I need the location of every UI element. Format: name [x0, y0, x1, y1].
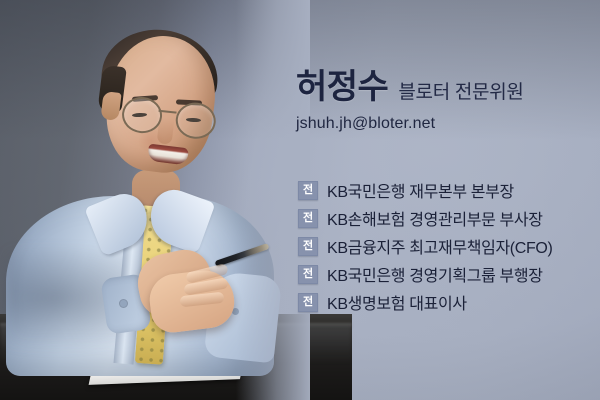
person-role: 블로터 전문위원	[398, 77, 523, 104]
career-text: KB생명보험 대표이사	[327, 290, 467, 314]
list-item: 전 KB생명보험 대표이사	[298, 288, 594, 316]
list-item: 전 KB금융지주 최고재무책임자(CFO)	[298, 232, 594, 260]
career-list: 전 KB국민은행 재무본부 본부장 전 KB손해보험 경영관리부문 부사장 전 …	[298, 176, 594, 316]
list-item: 전 KB국민은행 재무본부 본부장	[298, 176, 594, 204]
career-text: KB국민은행 경영기획그룹 부행장	[327, 262, 543, 286]
portrait-photo	[0, 0, 300, 400]
lens-right	[174, 101, 218, 141]
name-row: 허정수 블로터 전문위원	[296, 70, 588, 106]
career-text: KB국민은행 재무본부 본부장	[327, 178, 514, 202]
email-address[interactable]: jshuh.jh@bloter.net	[296, 115, 588, 133]
status-badge: 전	[298, 265, 318, 284]
identity-block: 허정수 블로터 전문위원 jshuh.jh@bloter.net	[296, 70, 588, 133]
cuff-button	[120, 300, 127, 307]
status-badge: 전	[298, 293, 318, 312]
profile-card: 허정수 블로터 전문위원 jshuh.jh@bloter.net 전 KB국민은…	[0, 0, 600, 400]
list-item: 전 KB손해보험 경영관리부문 부사장	[298, 204, 594, 232]
status-badge: 전	[298, 209, 318, 228]
list-item: 전 KB국민은행 경영기획그룹 부행장	[298, 260, 594, 288]
career-text: KB금융지주 최고재무책임자(CFO)	[327, 234, 553, 258]
lens-left	[120, 95, 164, 135]
career-text: KB손해보험 경영관리부문 부사장	[327, 206, 543, 230]
person-name: 허정수	[296, 70, 388, 106]
status-badge: 전	[298, 181, 318, 200]
status-badge: 전	[298, 237, 318, 256]
